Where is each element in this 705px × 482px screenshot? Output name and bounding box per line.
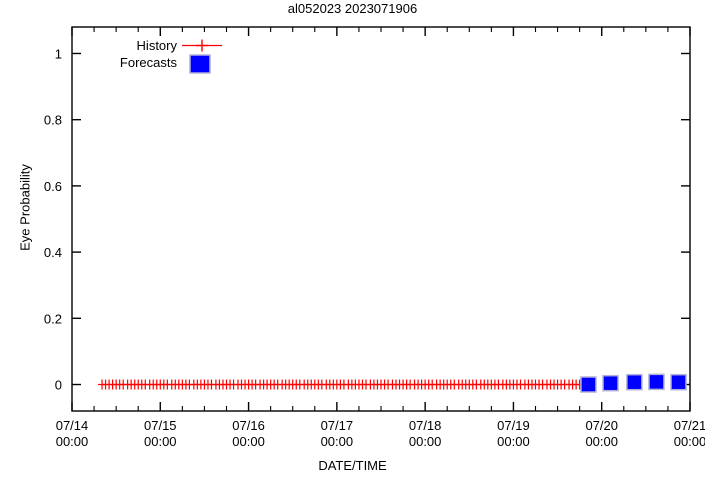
x-axis-minor-ticks: [94, 27, 668, 411]
x-tick-label-time: 00:00: [144, 434, 177, 449]
y-tick-label: 0.6: [44, 179, 62, 194]
forecast-square-marker: [649, 374, 664, 389]
legend-history-cross-icon: [196, 40, 208, 52]
x-tick-label-time: 00:00: [409, 434, 442, 449]
y-tick-label: 0.4: [44, 245, 62, 260]
legend-label-forecasts: Forecasts: [120, 55, 178, 70]
legend-label-history: History: [137, 38, 178, 53]
x-tick-label-date: 07/18: [409, 418, 442, 433]
x-tick-label-time: 00:00: [321, 434, 354, 449]
forecast-square-marker: [603, 376, 618, 391]
y-tick-label: 0: [55, 378, 62, 393]
x-tick-label-date: 07/17: [321, 418, 354, 433]
chart-legend: History Forecasts: [120, 38, 222, 73]
forecast-square-marker: [581, 377, 596, 392]
x-tick-label-date: 07/21: [674, 418, 705, 433]
x-tick-label-time: 00:00: [497, 434, 530, 449]
x-tick-label-time: 00:00: [585, 434, 618, 449]
x-tick-label-date: 07/15: [144, 418, 177, 433]
y-tick-label: 0.8: [44, 113, 62, 128]
x-tick-label-date: 07/16: [232, 418, 265, 433]
legend-forecast-swatch: [190, 55, 210, 73]
forecast-square-marker: [671, 375, 686, 390]
y-tick-label: 0.2: [44, 311, 62, 326]
x-tick-label-time: 00:00: [674, 434, 705, 449]
forecast-series: [581, 370, 705, 392]
x-tick-label-time: 00:00: [56, 434, 89, 449]
forecast-square-marker: [627, 375, 642, 390]
plot-frame: [72, 27, 690, 411]
chart-container: al052023 2023071906 Eye Probability DATE…: [0, 0, 705, 482]
plot-area: 00.20.40.60.81 07/1400:0007/1500:0007/16…: [0, 0, 705, 482]
y-tick-label: 1: [55, 46, 62, 61]
y-axis-ticks: 00.20.40.60.81: [44, 46, 690, 392]
x-tick-label-date: 07/20: [585, 418, 618, 433]
x-tick-label-time: 00:00: [232, 434, 265, 449]
history-series: [98, 380, 584, 390]
x-tick-label-date: 07/14: [56, 418, 89, 433]
x-tick-label-date: 07/19: [497, 418, 530, 433]
